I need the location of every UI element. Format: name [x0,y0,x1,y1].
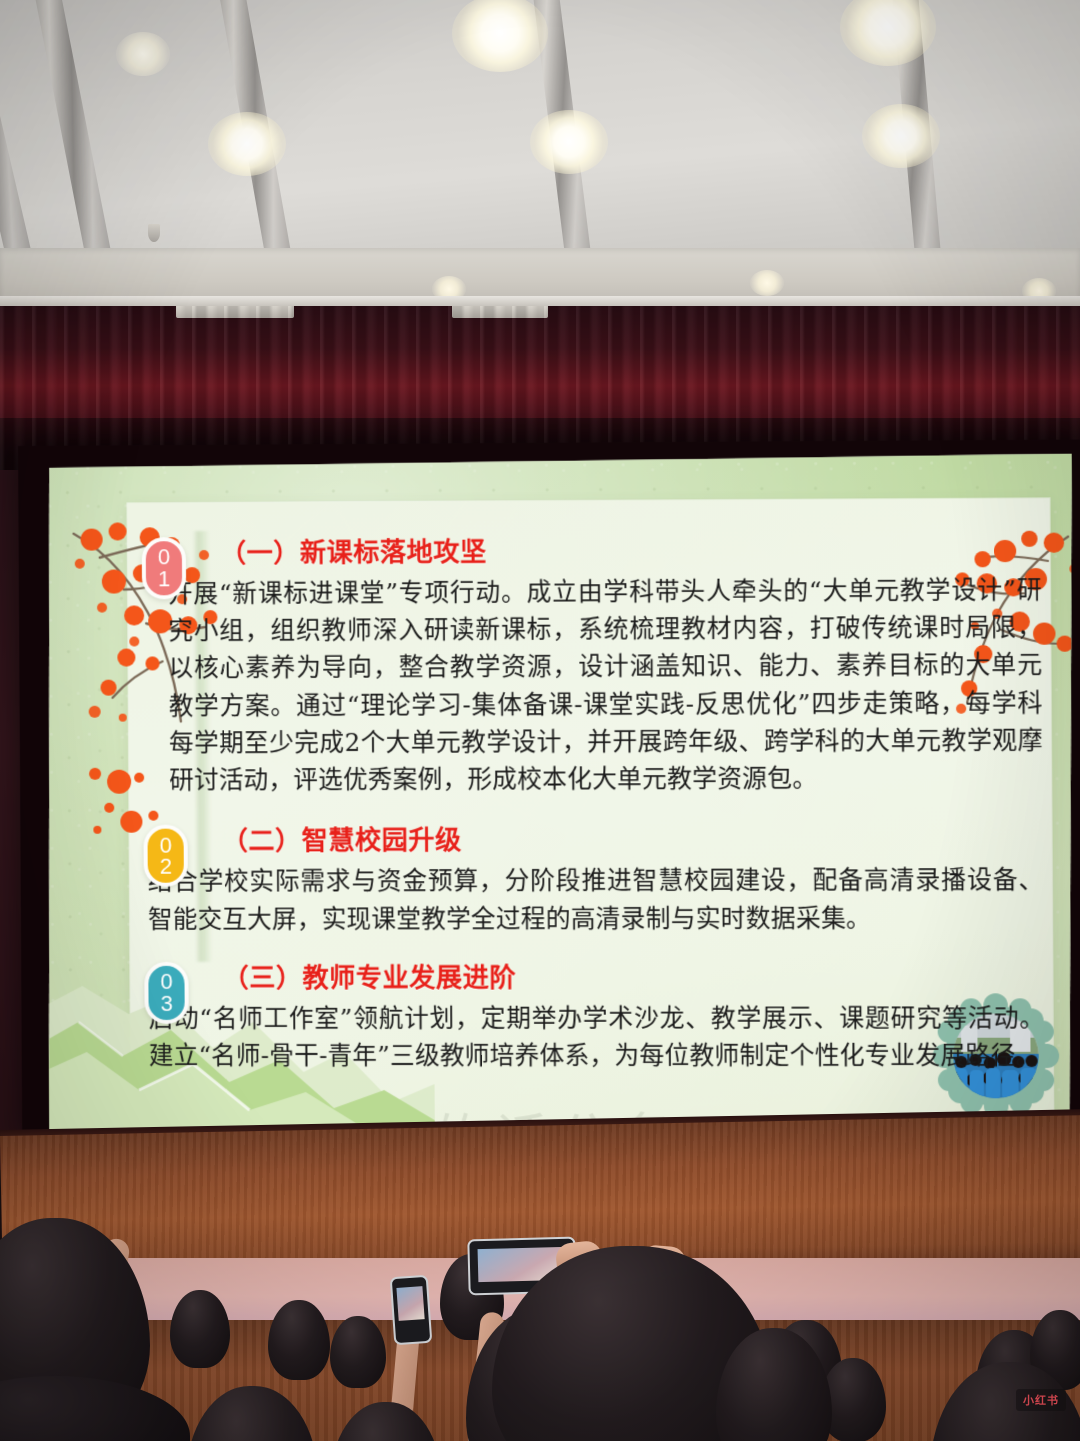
ceiling-spotlight-icon [208,112,286,176]
audience-head [268,1300,330,1380]
curtain-pelmet [452,306,548,318]
source-watermark: 小红书 [1016,1389,1066,1411]
slide-section: 0 2 （二）智慧校园升级 结合学校实际需求与资金预算，分阶段推进智慧校园建设，… [143,819,1044,938]
section-body: 启动“名师工作室”领航计划，定期举办学术沙龙、教学展示、课题研究等活动。建立“名… [149,999,1045,1074]
section-number-badge: 0 1 [142,537,186,599]
section-heading: （一）新课标落地攻坚 [220,529,1042,570]
curtain-pelmet [176,306,294,318]
projection-screen-frame: 王的话公务 [18,439,1080,1146]
projection-screen: 王的话公务 [45,454,1076,1133]
smartphone-icon [390,1275,433,1345]
badge-digit-bottom: 3 [160,993,172,1015]
section-heading: （三）教师专业发展进阶 [223,957,1045,995]
section-number-badge: 0 2 [143,825,188,887]
badge-digit-top: 0 [160,971,172,993]
slide-sections: 0 1 （一）新课标落地攻坚 开展“新课标进课堂”专项行动。成立由学科带头人牵头… [142,529,1045,1079]
badge-digit-top: 0 [159,835,171,857]
slide-section: 0 3 （三）教师专业发展进阶 启动“名师工作室”领航计划，定期举办学术沙龙、教… [144,957,1045,1075]
audience [0,1180,1080,1441]
ceiling-downlight-icon [750,270,784,296]
slide-section: 0 1 （一）新课标落地攻坚 开展“新课标进课堂”专项行动。成立由学科带头人牵头… [142,529,1044,799]
audience-head [170,1290,230,1368]
conference-photo: 王的话公务 [0,0,1080,1441]
badge-digit-top: 0 [158,547,170,569]
ceiling-spotlight-icon [862,104,940,168]
badge-digit-bottom: 1 [158,568,170,590]
badge-digit-bottom: 2 [160,856,172,878]
section-number-badge: 0 3 [144,962,189,1024]
ceiling [0,0,1080,300]
audience-shoulder [0,1376,190,1441]
sprinkler-head-icon [148,224,160,242]
audience-head [186,1386,318,1441]
presentation-slide: 王的话公务 [45,454,1076,1133]
section-heading: （二）智慧校园升级 [222,819,1044,858]
ceiling-spotlight-icon [116,32,170,76]
audience-head [330,1402,442,1441]
ceiling-spotlight-icon [530,110,608,174]
audience-head [330,1316,386,1388]
section-body: 结合学校实际需求与资金预算，分阶段推进智慧校园建设，配备高清录播设备、智能交互大… [148,861,1044,937]
section-body: 开展“新课标进课堂”专项行动。成立由学科带头人牵头的“大单元教学设计”研究小组，… [168,571,1043,799]
ceiling-spotlight-icon [452,0,548,72]
